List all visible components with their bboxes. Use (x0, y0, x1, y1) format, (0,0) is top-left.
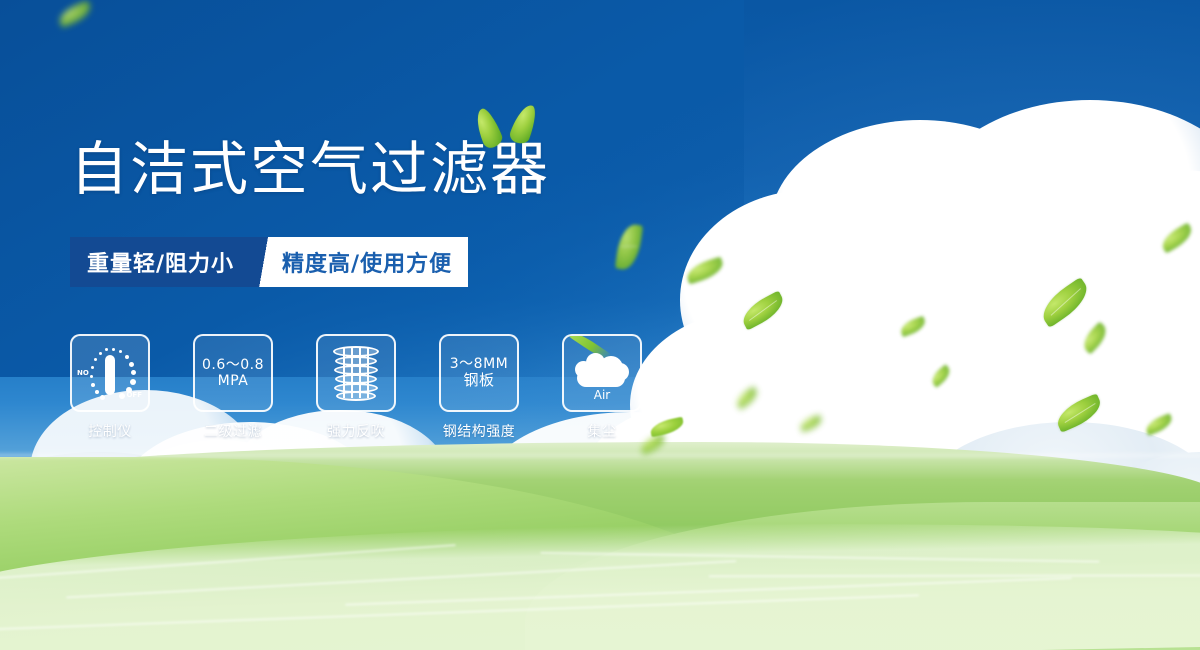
filter-cartridge-icon (329, 344, 383, 402)
air-label: Air (571, 388, 633, 402)
feature-caption: 二级过滤 (193, 421, 273, 441)
feature-caption: 集尘 (562, 421, 642, 441)
subtitle-left-text: 重量轻/阻力小 (70, 237, 252, 287)
feature-icon-box: NO OFF (70, 334, 150, 412)
grass-field (0, 442, 1200, 650)
product-banner: 自洁式空气过滤器 重量轻/阻力小 精度高/使用方便 (0, 0, 1200, 650)
feature-item-two-stage-filter[interactable]: 0.6～0.8 MPA 二级过滤 (193, 334, 273, 441)
cloud-air-icon: Air (571, 347, 633, 399)
feature-list: NO OFF 控制仪 0.6～0.8 MPA 二级过滤 (70, 334, 642, 441)
feature-caption: 钢结构强度 (439, 421, 519, 441)
feature-item-controller[interactable]: NO OFF 控制仪 (70, 334, 150, 441)
pressure-unit-text: MPA (218, 373, 249, 389)
subtitle-divider (252, 237, 278, 287)
steel-plate-text: 钢板 (463, 372, 494, 389)
steel-thickness-text: 3～8MM (450, 356, 508, 372)
feature-item-steel-structure[interactable]: 3～8MM 钢板 钢结构强度 (439, 334, 519, 441)
subtitle-bar: 重量轻/阻力小 精度高/使用方便 (70, 237, 468, 287)
gauge-needle (105, 355, 115, 395)
gauge-label-off: OFF (126, 391, 142, 399)
feature-icon-box (316, 334, 396, 412)
feature-item-dust-collection[interactable]: Air 集尘 (562, 334, 642, 441)
feature-caption: 控制仪 (70, 421, 150, 441)
gauge-label-no: NO (77, 369, 89, 377)
gauge-icon: NO OFF (79, 343, 141, 403)
feature-icon-box: Air (562, 334, 642, 412)
feature-icon-box: 3～8MM 钢板 (439, 334, 519, 412)
feature-caption: 强力反吹 (316, 421, 396, 441)
feature-icon-box: 0.6～0.8 MPA (193, 334, 273, 412)
pressure-range-text: 0.6～0.8 (202, 357, 264, 373)
feature-item-back-blow[interactable]: 强力反吹 (316, 334, 396, 441)
title-block: 自洁式空气过滤器 (70, 140, 550, 198)
sprout-leaves-icon (470, 100, 550, 154)
subtitle-right-text: 精度高/使用方便 (278, 237, 468, 287)
